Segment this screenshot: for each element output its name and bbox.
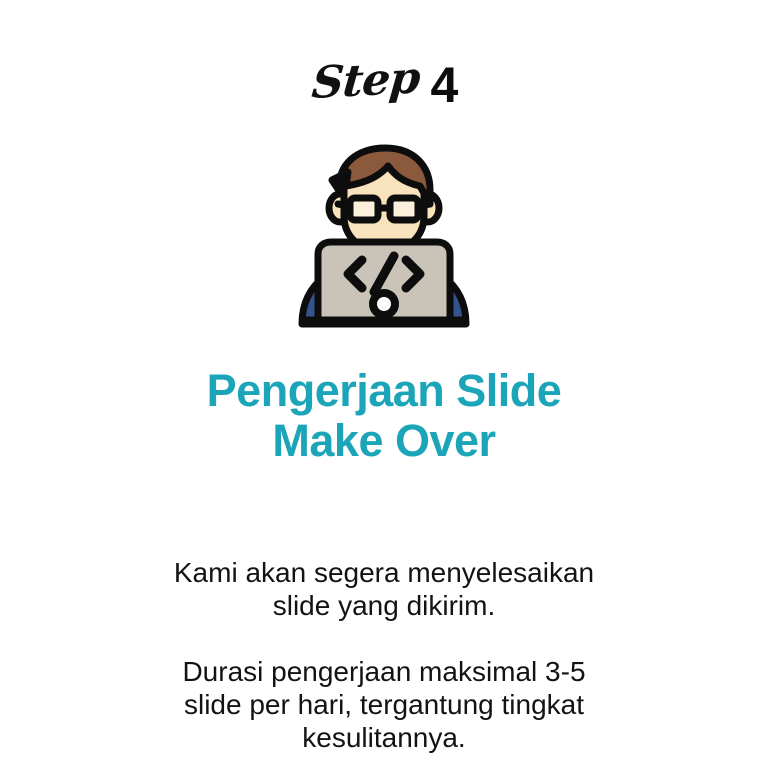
paragraph-2-line-3: kesulitannya. xyxy=(104,722,664,755)
step-label: Step xyxy=(310,56,421,106)
page-title: Pengerjaan Slide Make Over xyxy=(74,366,694,467)
paragraph-2-line-1: Durasi pengerjaan maksimal 3-5 xyxy=(104,656,664,689)
trackpad-dot-icon xyxy=(373,293,395,315)
paragraph-2-line-2: slide per hari, tergantung tingkat xyxy=(104,689,664,722)
step-number: 4 xyxy=(431,60,459,110)
paragraph-1: Kami akan segera menyelesaikan slide yan… xyxy=(104,557,664,623)
page-title-line-1: Pengerjaan Slide xyxy=(74,366,694,416)
page-title-line-2: Make Over xyxy=(74,416,694,466)
paragraph-2: Durasi pengerjaan maksimal 3-5 slide per… xyxy=(104,656,664,754)
body-copy: Kami akan segera menyelesaikan slide yan… xyxy=(104,529,664,783)
programmer-illustration xyxy=(284,142,484,328)
step-eyebrow: Step 4 xyxy=(310,58,459,108)
paragraph-1-line-2: slide yang dikirim. xyxy=(104,590,664,623)
paragraph-1-line-1: Kami akan segera menyelesaikan xyxy=(104,557,664,590)
programmer-at-laptop-icon xyxy=(284,142,484,328)
slide-canvas: Step 4 xyxy=(0,0,768,768)
